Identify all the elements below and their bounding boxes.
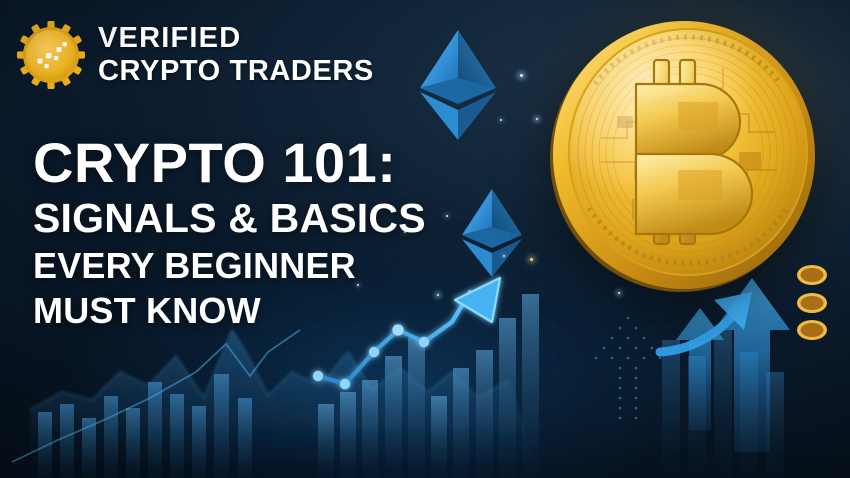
ethereum-diamond-icon [457, 186, 527, 280]
brand-wordmark: VERIFIED CRYPTO TRADERS [98, 24, 374, 86]
sparkle-dot [618, 292, 620, 294]
gear-badge-icon [16, 20, 86, 90]
sparkle-dot [503, 255, 505, 257]
bitcoin-coin-icon [543, 12, 825, 294]
brand-lockup[interactable]: VERIFIED CRYPTO TRADERS [16, 20, 374, 90]
sparkle-dot [530, 258, 533, 261]
brand-line-1: VERIFIED [98, 24, 374, 53]
headline-subline-3: MUST KNOW [33, 293, 426, 329]
arrow-up-dotted-icon [595, 317, 662, 420]
headline-subline-2: EVERY BEGINNER [33, 248, 426, 284]
ethereum-diamond-icon [414, 26, 502, 144]
promotional-banner: VERIFIED CRYPTO TRADERS CRYPTO 101: SIGN… [0, 0, 850, 478]
headline-subline-1: SIGNALS & BASICS [33, 198, 426, 239]
gold-coin-stack-icon [791, 264, 833, 342]
sparkle-dot [520, 74, 523, 77]
sparkle-dot [437, 294, 439, 296]
sparkle-dot [500, 119, 502, 121]
sparkle-dot [446, 215, 448, 217]
sparkle-dot [536, 118, 538, 120]
headline-main: CRYPTO 101: [33, 136, 426, 191]
headline-block: CRYPTO 101: SIGNALS & BASICS EVERY BEGIN… [33, 136, 426, 329]
brand-line-2: CRYPTO TRADERS [98, 57, 374, 86]
